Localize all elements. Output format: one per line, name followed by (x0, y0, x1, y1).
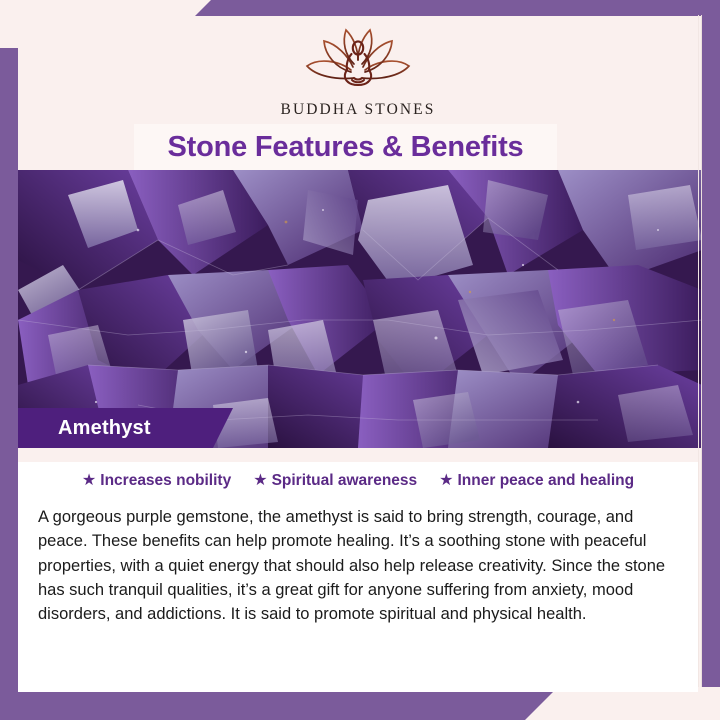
benefit-label: Spiritual awareness (272, 472, 418, 490)
frame-hairline-outer (701, 15, 702, 687)
brand-name: BUDDHA STONES (281, 101, 436, 119)
infographic-page: BUDDHA STONES Stone Features & Benefits (0, 0, 720, 720)
amethyst-hero-image (18, 170, 702, 448)
star-icon: ★ (82, 473, 96, 489)
page-title-panel: Stone Features & Benefits (134, 124, 557, 170)
content-panel: ★ Increases nobility ★ Spiritual awarene… (18, 448, 698, 692)
content-top-tint (18, 448, 698, 462)
page-title: Stone Features & Benefits (168, 131, 524, 164)
stone-name-ribbon: Amethyst (18, 408, 233, 448)
stone-name-label: Amethyst (18, 417, 151, 440)
benefit-item-2: ★ Spiritual awareness (253, 472, 417, 490)
star-icon: ★ (439, 473, 453, 489)
lotus-meditation-figure-icon (294, 22, 422, 96)
benefit-label: Increases nobility (100, 472, 231, 490)
frame-hairline-inner (698, 15, 699, 687)
frame-right-bar (702, 15, 720, 687)
stone-description: A gorgeous purple gemstone, the amethyst… (32, 505, 684, 626)
frame-left-bar (0, 48, 18, 720)
star-icon: ★ (253, 473, 267, 489)
benefit-label: Inner peace and healing (458, 472, 635, 490)
benefit-item-1: ★ Increases nobility (82, 472, 231, 490)
benefit-item-3: ★ Inner peace and healing (439, 472, 634, 490)
frame-bottom-bar (0, 692, 553, 720)
frame-top-bar (195, 0, 720, 16)
